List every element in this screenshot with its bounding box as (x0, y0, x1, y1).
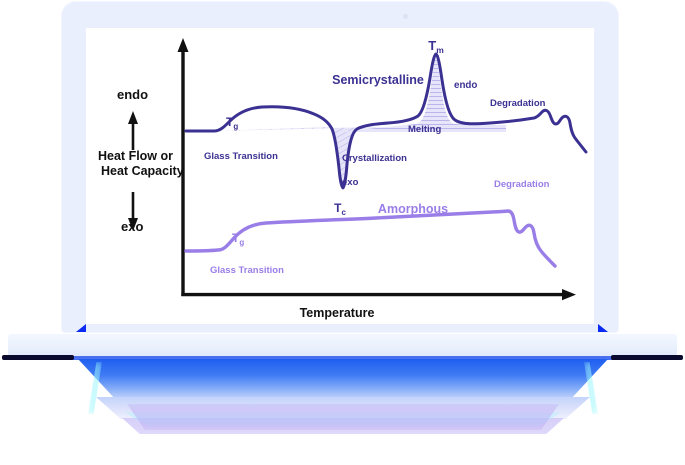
camera-dot-icon (403, 14, 408, 19)
amorphous-tg-label: Tg (232, 231, 244, 247)
semicrystalline-degradation-caption: Degradation (490, 98, 546, 109)
laptop-mockup-scene: Tg Glass Transition Tc Crystallization e… (0, 0, 685, 465)
glow-violet-bottom (118, 404, 568, 430)
semicrystalline-series-label: Semicrystalline (332, 73, 424, 87)
crystallization-exo-caption: exo (342, 177, 359, 188)
semicrystalline-glass-transition-caption: Glass Transition (204, 151, 278, 162)
semicrystalline-tm-label: Tm (428, 38, 444, 55)
laptop-base (8, 334, 677, 358)
crystallization-caption: Crystallization (342, 153, 407, 164)
amorphous-glass-transition-caption: Glass Transition (210, 265, 284, 276)
laptop-foot-right (611, 355, 683, 360)
laptop-screen: Tg Glass Transition Tc Crystallization e… (86, 28, 594, 324)
melting-peak-fill (338, 54, 506, 132)
semicrystalline-tc-label: Tc (334, 201, 346, 217)
amorphous-series-label: Amorphous (378, 202, 448, 216)
melting-endo-caption: endo (454, 80, 477, 91)
dsc-thermogram-chart: Tg Glass Transition Tc Crystallization e… (86, 28, 594, 324)
laptop-reflection-primary (78, 359, 608, 399)
amorphous-degradation-caption: Degradation (494, 179, 550, 190)
melting-caption: Melting (408, 124, 441, 135)
laptop-foot-left (2, 355, 74, 360)
